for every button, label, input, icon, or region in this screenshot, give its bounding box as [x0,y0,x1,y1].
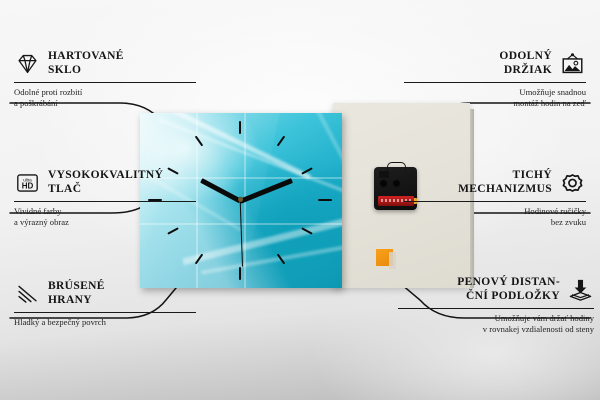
feature-title-line2: ČNÍ PODLOŽKY [457,290,560,304]
feature-tempered-glass: HARTOVANÉ SKLO Odolné proti rozbití a po… [14,50,196,109]
divider [398,308,594,309]
diamond-icon [14,52,41,76]
tick-1 [277,136,286,147]
feature-desc-line2: bez zvuku [404,217,586,228]
divider [404,201,586,202]
feature-title-line2: TLAČ [48,183,163,197]
divider [14,201,196,202]
feature-title-line1: VYSOKOKVALITNÝ [48,169,163,183]
feather-streak [290,113,342,169]
feature-durable-holder: ODOLNÝ DRŽIAK Umožňuje snadnou montáž ho… [404,50,586,109]
feature-title-line1: PENOVÝ DISTAN- [457,276,560,290]
mechanism-slot [379,171,389,178]
ultra-hd-large-text: HD [22,181,34,190]
feature-title-line2: HRANY [48,294,105,308]
feature-high-quality-print: ultra HD VYSOKOKVALITNÝ TLAČ Vividné far… [14,169,196,228]
feature-silent-mechanism: TICHÝ MECHANIZMUS Hodinové ručičky bez z… [404,169,586,228]
feature-title-line2: MECHANIZMUS [458,183,552,197]
tick-12 [239,121,241,134]
feature-title-line1: HARTOVANÉ [48,50,124,64]
mechanism-knob-right [392,179,401,188]
mechanism-knob-left [379,179,388,188]
feature-title-line2: SKLO [48,64,124,78]
feature-foam-spacers: PENOVÝ DISTAN- ČNÍ PODLOŽKY Umožňuje vám… [398,276,594,335]
feature-desc-line1: Vividné farby [14,206,196,217]
hands-center-cap [238,197,243,202]
framed-picture-icon [559,52,586,76]
divider [14,82,196,83]
infographic-stage: HARTOVANÉ SKLO Odolné proti rozbití a po… [0,0,600,400]
arrow-onto-layers-icon [567,278,594,302]
feature-desc-line2: a poškrábání [14,98,196,109]
feature-desc-line1: Hodinové ručičky [404,206,586,217]
feature-desc-line1: Umožňuje vám držať hodiny [398,313,594,324]
foam-spacer-pad [376,249,393,266]
feature-polished-edges: BRÚSENÉ HRANY Hladký a bezpečný povrch [14,280,196,328]
feature-desc-line2: montáž hodin na zeď [404,98,586,109]
feature-desc-line1: Umožňuje snadnou [404,87,586,98]
feature-title-line2: DRŽIAK [499,64,552,78]
feature-title-line1: ODOLNÝ [499,50,552,64]
feature-title-line1: TICHÝ [458,169,552,183]
feature-desc-line1: Odolné proti rozbití [14,87,196,98]
feature-desc-line2: v rovnakej vzdialenosti od steny [398,324,594,335]
gear-icon [559,171,586,195]
divider [14,312,196,313]
tick-3 [318,199,332,201]
feature-title-line1: BRÚSENÉ [48,280,105,294]
ultra-hd-icon: ultra HD [14,171,41,195]
feature-desc-line2: a výrazný obraz [14,217,196,228]
tick-6 [239,267,241,280]
feature-desc-line1: Hladký a bezpečný povrch [14,317,196,328]
divider [404,82,586,83]
diagonal-lines-icon [14,282,41,306]
